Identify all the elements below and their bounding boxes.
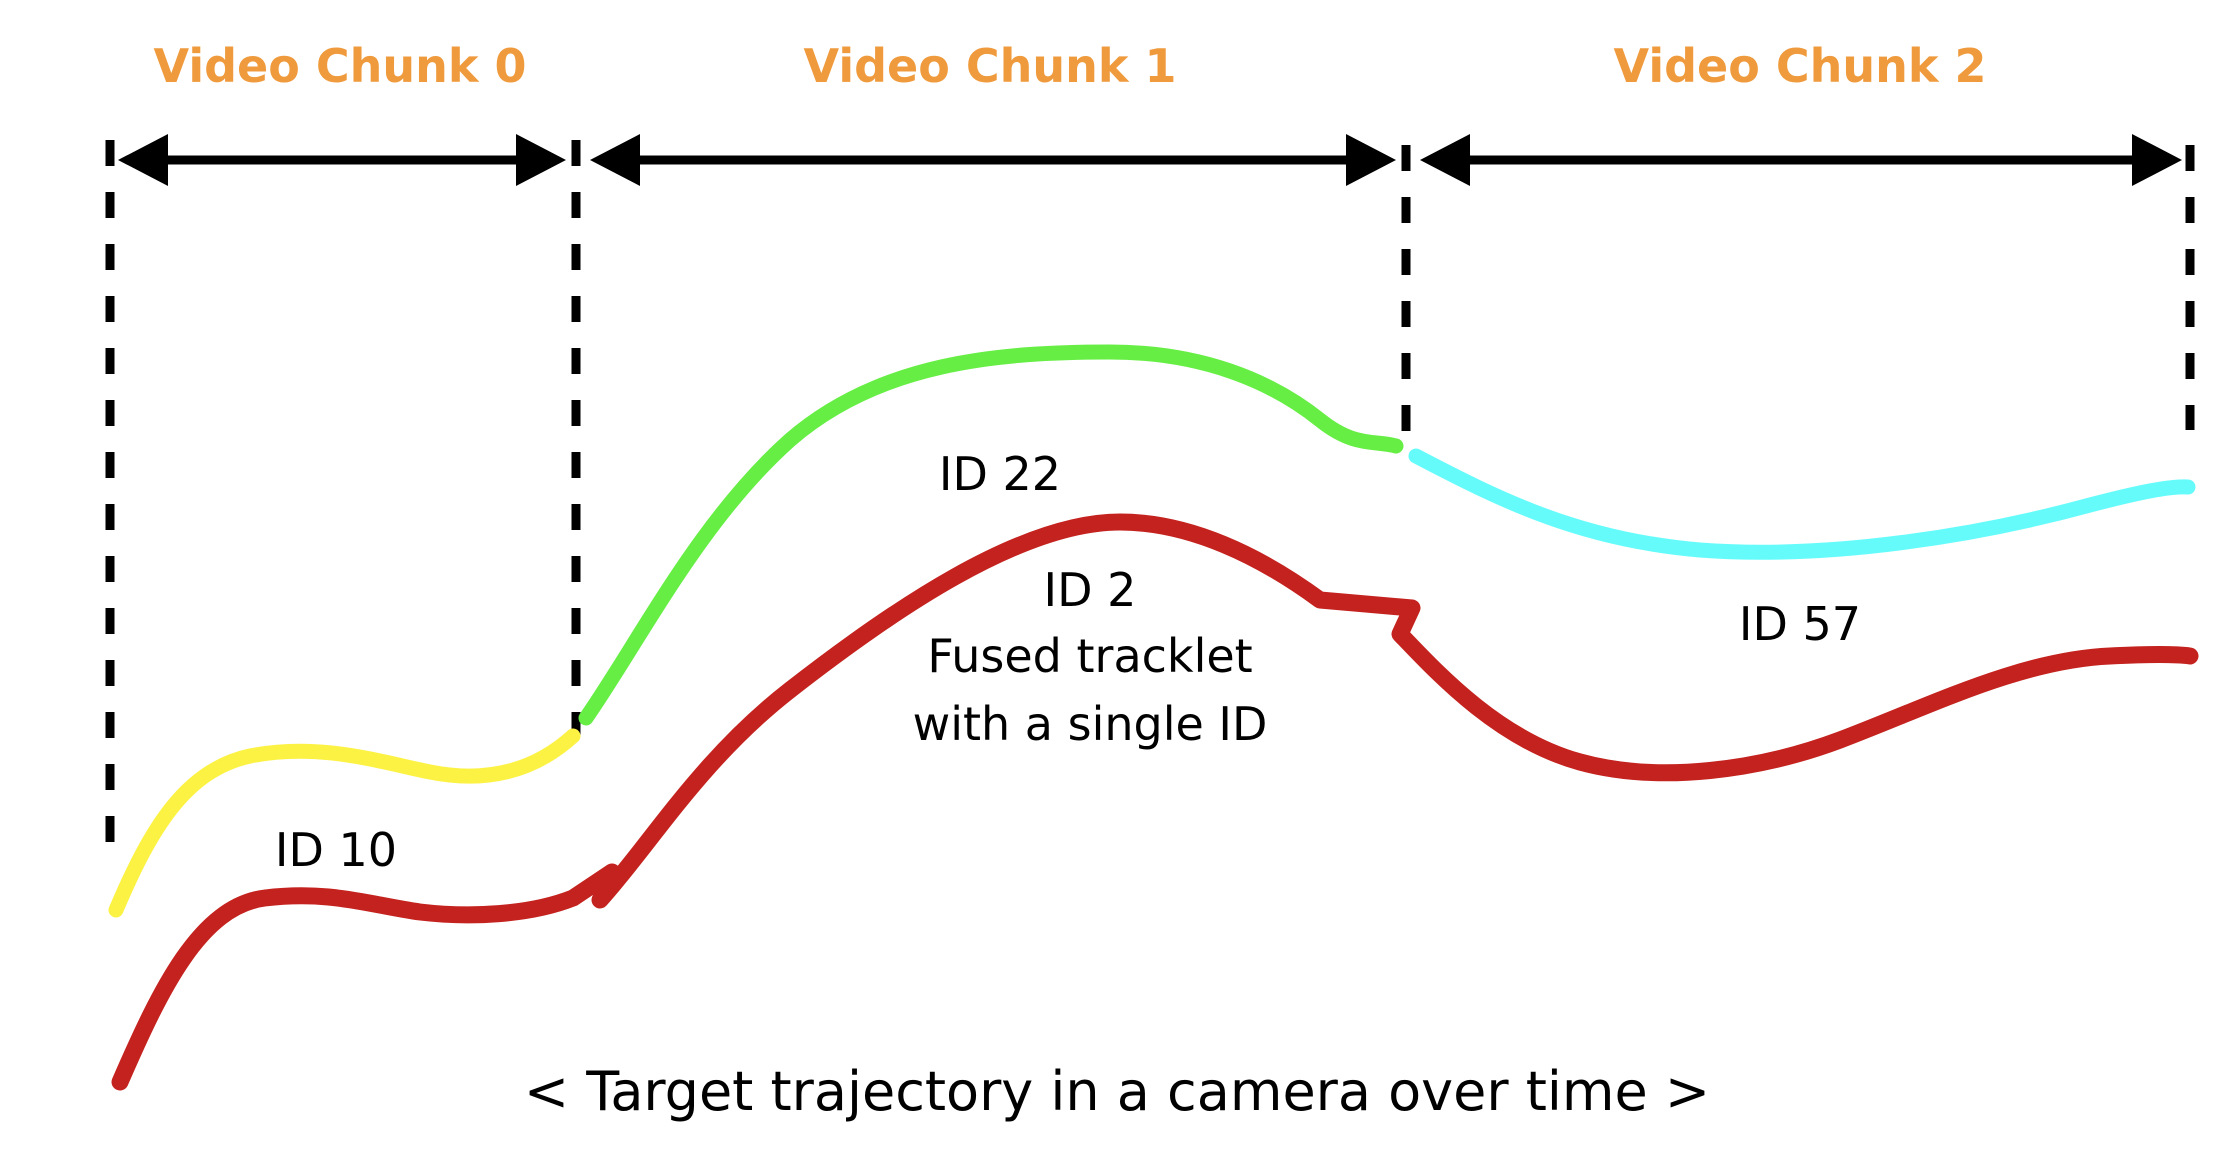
- tracklet-label-fused-line2: with a single ID: [913, 697, 1268, 751]
- chunk-span-arrow-2-head-right: [2132, 134, 2182, 186]
- chunk-span-arrow-0: [118, 134, 566, 186]
- chunk-span-arrow-0-head-right: [516, 134, 566, 186]
- tracklet-path-id57: [1416, 456, 2188, 552]
- chunk-span-arrow-1-head-right: [1346, 134, 1396, 186]
- tracklet-label-id2: ID 2: [1044, 563, 1137, 617]
- chunk-title-1: Video Chunk 1: [804, 39, 1177, 93]
- tracklet-label-fused-line1: Fused tracklet: [927, 629, 1252, 683]
- tracklet-label-id10: ID 10: [275, 823, 397, 877]
- chunk-span-arrow-2: [1420, 134, 2182, 186]
- chunk-title-2: Video Chunk 2: [1614, 39, 1987, 93]
- figure-caption: < Target trajectory in a camera over tim…: [524, 1060, 1710, 1123]
- chunk-span-arrow-0-head-left: [118, 134, 168, 186]
- chunk-title-0: Video Chunk 0: [154, 39, 527, 93]
- tracklet-label-id57: ID 57: [1739, 597, 1861, 651]
- tracklet-path-id2-fused: [120, 522, 2190, 1082]
- chunk-span-arrow-2-head-left: [1420, 134, 1470, 186]
- chunk-span-arrow-1: [590, 134, 1396, 186]
- tracklet-label-id22: ID 22: [939, 447, 1061, 501]
- chunk-span-arrow-1-head-left: [590, 134, 640, 186]
- trajectory-chunking-diagram: Video Chunk 0 Video Chunk 1 Video Chunk …: [0, 0, 2234, 1176]
- diagram-canvas: Video Chunk 0 Video Chunk 1 Video Chunk …: [0, 0, 2234, 1176]
